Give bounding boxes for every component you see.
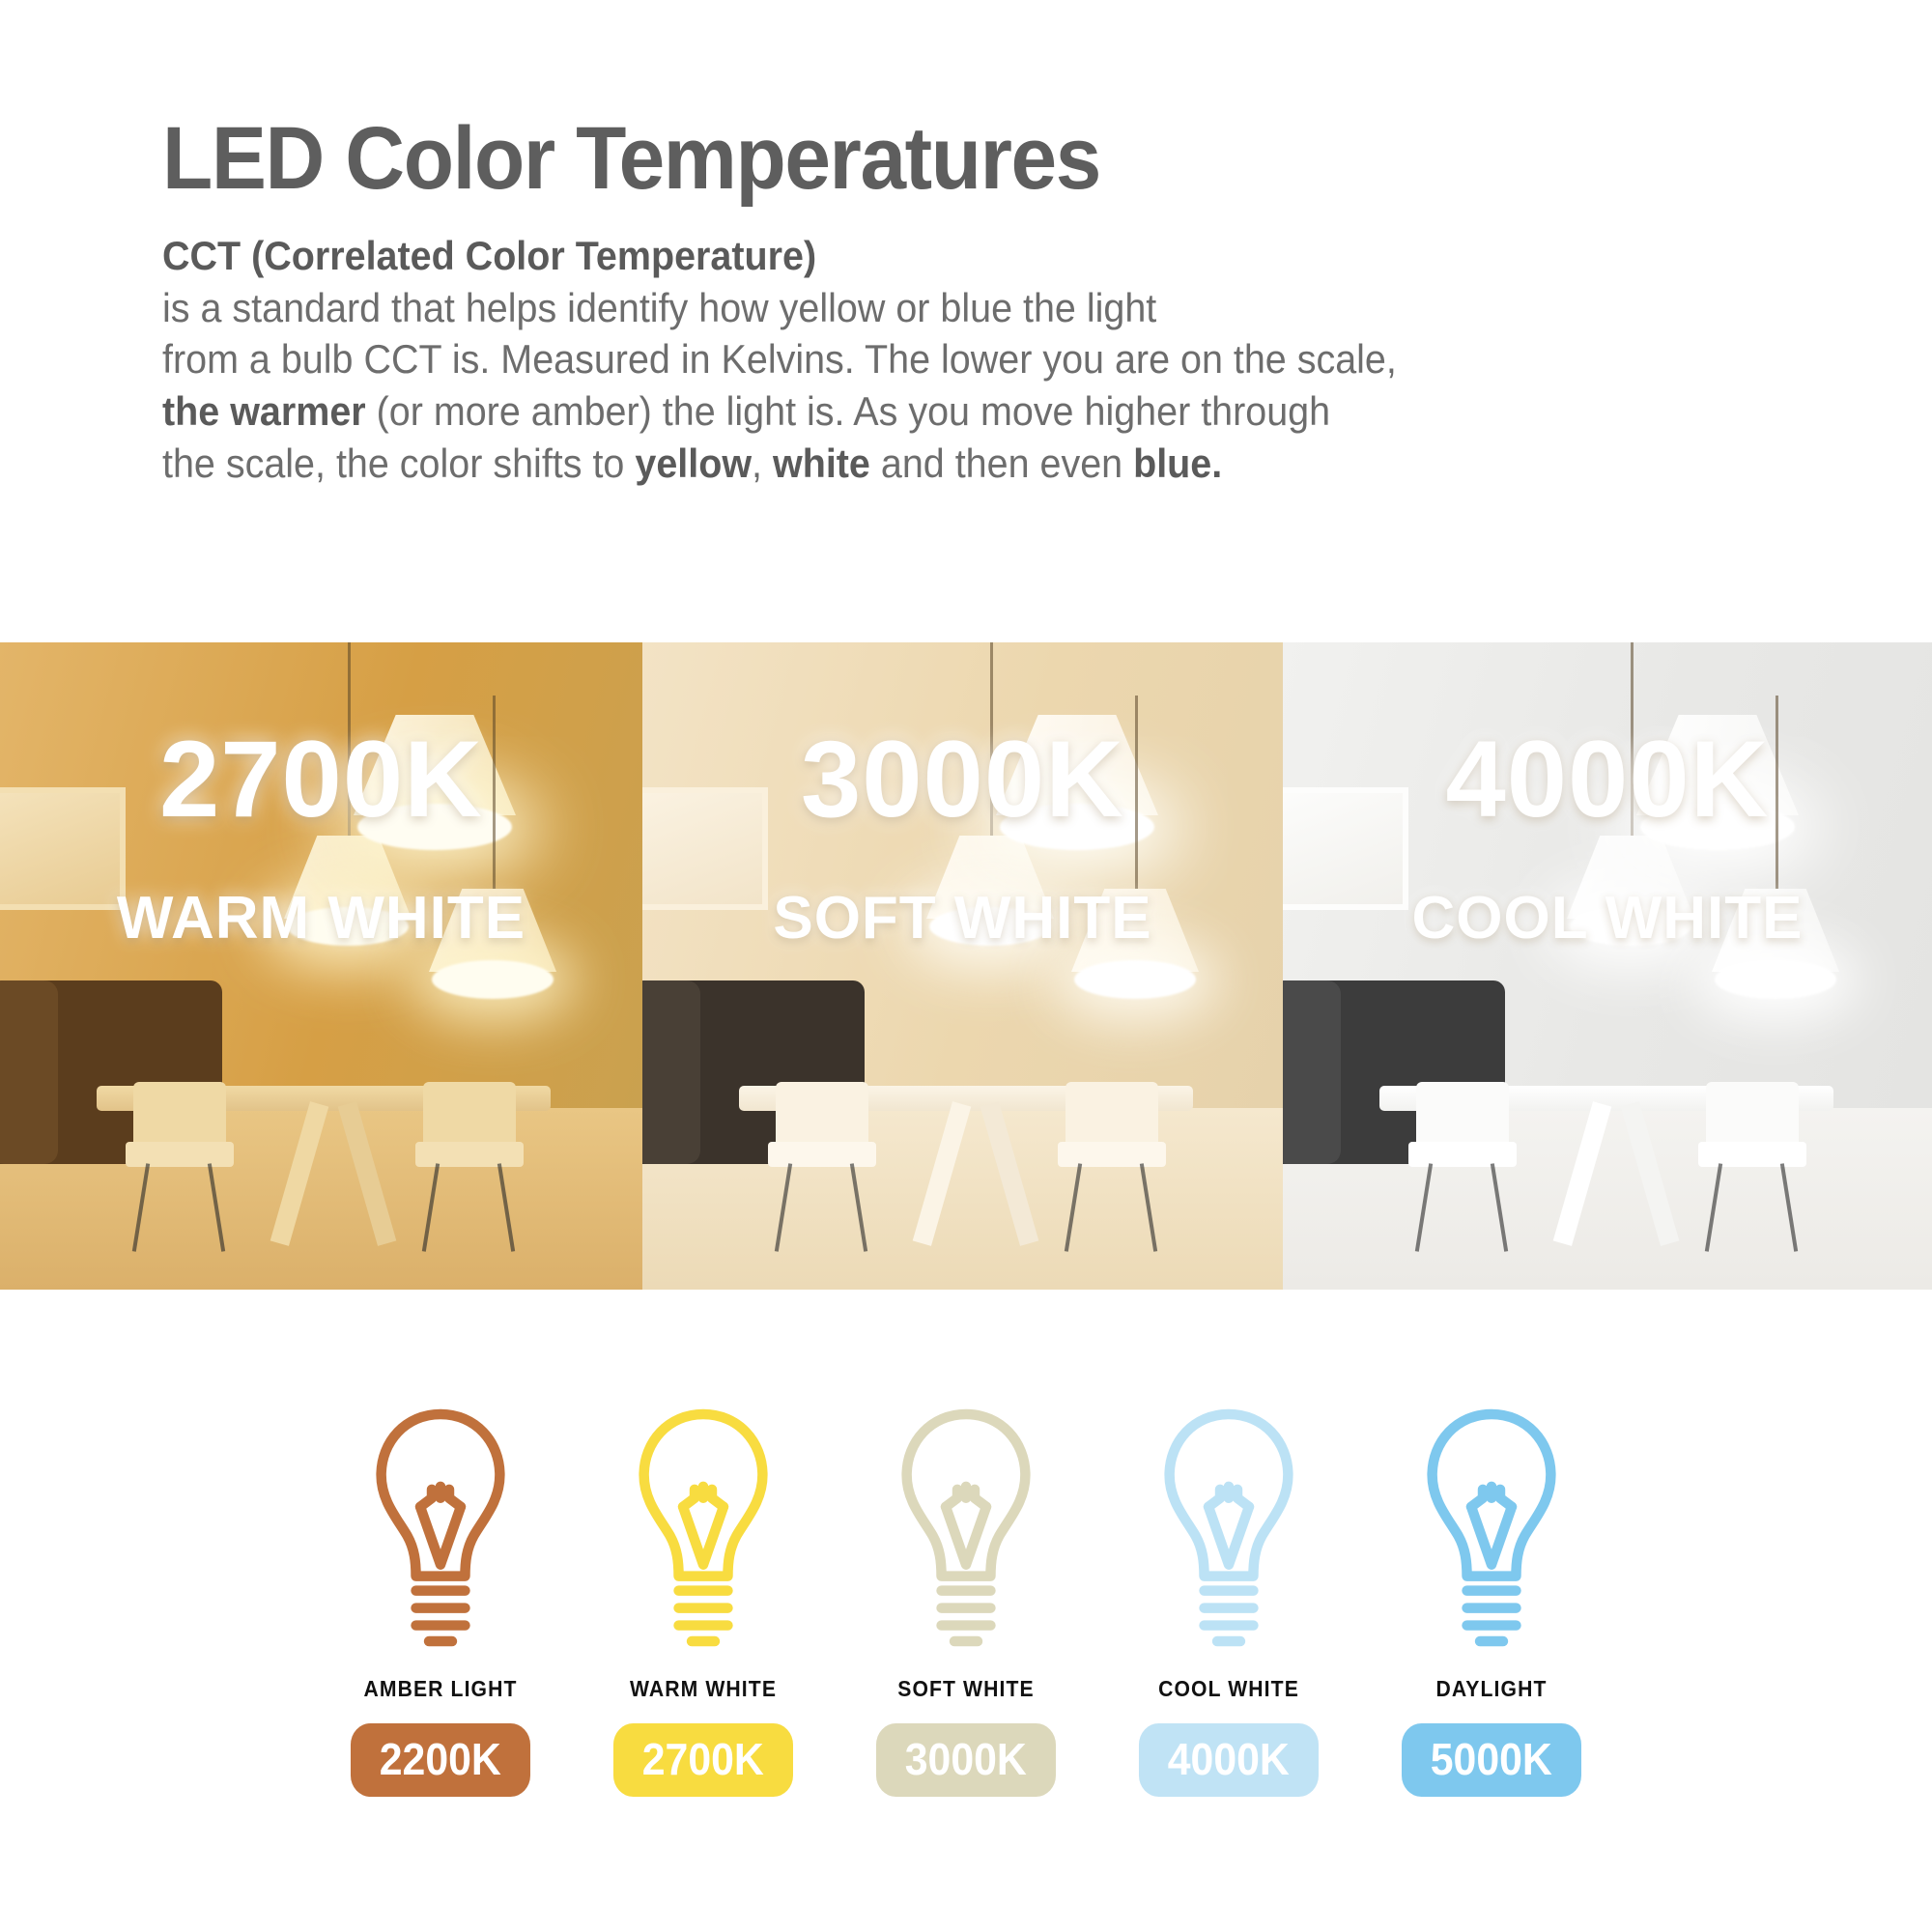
chair-leg [1705,1163,1722,1251]
scale-item-soft-white[interactable]: SOFT WHITE 3000K [835,1406,1097,1797]
intro-paragraph: CCT (Correlated Color Temperature) is a … [162,230,1826,490]
chair-seat [1408,1142,1517,1167]
chair-back [423,1082,516,1150]
chair-leg [1415,1163,1433,1251]
chair-leg [775,1163,792,1251]
warmer-mid: (or more amber) [377,388,652,434]
room-scene-illustration [1283,642,1932,1290]
chair-seat [1698,1142,1806,1167]
chair-back [1065,1082,1158,1150]
photo-comparison-strip: 2700K WARM WHITE [0,642,1932,1290]
lightbulb-icon [368,1406,513,1659]
lightbulb-icon [1419,1406,1564,1659]
lamp-glow [1715,960,1836,999]
chair [415,1082,524,1251]
line4-comma: , [752,440,773,486]
chair-seat [1058,1142,1166,1167]
warmer-bold: the warmer [162,388,366,434]
wall-picture-frame [642,787,768,910]
lamp-cord [1135,696,1138,889]
line4-tail: and then even [870,440,1133,486]
room-scene-illustration [642,642,1283,1290]
lightbulb-icon [1156,1406,1301,1659]
scale-item-label: DAYLIGHT [1371,1676,1612,1702]
lightbulb-icon [894,1406,1038,1659]
chair [1698,1082,1806,1251]
chair-seat [768,1142,876,1167]
wall-picture-image [0,793,120,904]
chair-leg [208,1163,225,1251]
scale-item-kelvin-pill[interactable]: 2200K [351,1723,530,1797]
lamp-glow [1000,804,1154,850]
chair-leg [850,1163,867,1251]
chair-leg [1780,1163,1798,1251]
header-block: LED Color Temperatures CCT (Correlated C… [0,0,1932,490]
paragraph-line-3-tail: the light is. As you move higher through [663,388,1330,434]
lamp-glow [357,804,512,850]
scale-item-kelvin-pill[interactable]: 5000K [1402,1723,1581,1797]
chair [768,1082,876,1251]
scale-item-daylight[interactable]: DAYLIGHT 5000K [1360,1406,1623,1797]
wall-picture-frame [0,787,126,910]
room-scene-illustration [0,642,642,1290]
paragraph-subtitle: CCT (Correlated Color Temperature) [162,230,1826,282]
lamp-cord [348,642,351,845]
sofa-arm [1283,980,1341,1164]
chair-back [1706,1082,1799,1150]
chair-back [1416,1082,1509,1150]
wall-picture-image [1283,793,1403,904]
blue-bold: blue. [1133,440,1222,486]
scale-item-cool-white[interactable]: COOL WHITE 4000K [1097,1406,1360,1797]
scale-item-label: SOFT WHITE [845,1676,1087,1702]
chair-leg [1491,1163,1508,1251]
chair-leg [132,1163,150,1251]
lightbulb-icon [631,1406,776,1659]
sofa-arm [642,980,700,1164]
lamp-cord [1631,642,1634,845]
lamp-cord [990,642,993,845]
sofa-arm [0,980,58,1164]
yellow-bold: yellow [635,440,752,486]
scale-item-kelvin-pill[interactable]: 2700K [613,1723,793,1797]
scale-item-label: WARM WHITE [582,1676,824,1702]
chair-seat [415,1142,524,1167]
scale-item-label: AMBER LIGHT [320,1676,561,1702]
lamp-glow [929,907,1051,946]
scale-item-amber-light[interactable]: AMBER LIGHT 2200K [309,1406,572,1797]
paragraph-line-4-head: the scale, the color shifts to [162,440,624,486]
chair [1408,1082,1517,1251]
lamp-glow [1640,804,1795,850]
page-title: LED Color Temperatures [162,114,1808,205]
paragraph-line-2: from a bulb CCT is. Measured in Kelvins.… [162,333,1826,385]
lamp-glow [1570,907,1691,946]
photo-panel-3000k: 3000K SOFT WHITE [642,642,1283,1290]
chair-leg [1140,1163,1157,1251]
chair [126,1082,234,1251]
lamp-glow [287,907,409,946]
paragraph-line-1: is a standard that helps identify how ye… [162,282,1826,334]
lamp-cord [493,696,496,889]
scale-item-kelvin-pill[interactable]: 4000K [1139,1723,1319,1797]
chair [1058,1082,1166,1251]
chair-leg [422,1163,440,1251]
paragraph-line-4: the scale, the color shifts to yellow, w… [162,438,1826,490]
photo-panel-2700k: 2700K WARM WHITE [0,642,642,1290]
chair-seat [126,1142,234,1167]
chair-back [133,1082,226,1150]
wall-picture-image [642,793,762,904]
chair-leg [497,1163,515,1251]
scale-item-warm-white[interactable]: WARM WHITE 2700K [572,1406,835,1797]
wall-picture-frame [1283,787,1408,910]
photo-panel-4000k: 4000K COOL WHITE [1283,642,1932,1290]
chair-leg [1065,1163,1082,1251]
scale-item-kelvin-pill[interactable]: 3000K [876,1723,1056,1797]
cct-scale-row: AMBER LIGHT 2200K WARM WHITE 2700K [0,1406,1932,1797]
paragraph-line-3: the warmer (or more amber) the light is.… [162,385,1826,438]
lamp-glow [1074,960,1196,999]
chair-back [776,1082,868,1150]
scale-item-label: COOL WHITE [1108,1676,1350,1702]
white-bold: white [773,440,870,486]
lamp-cord [1776,696,1778,889]
lamp-glow [432,960,554,999]
